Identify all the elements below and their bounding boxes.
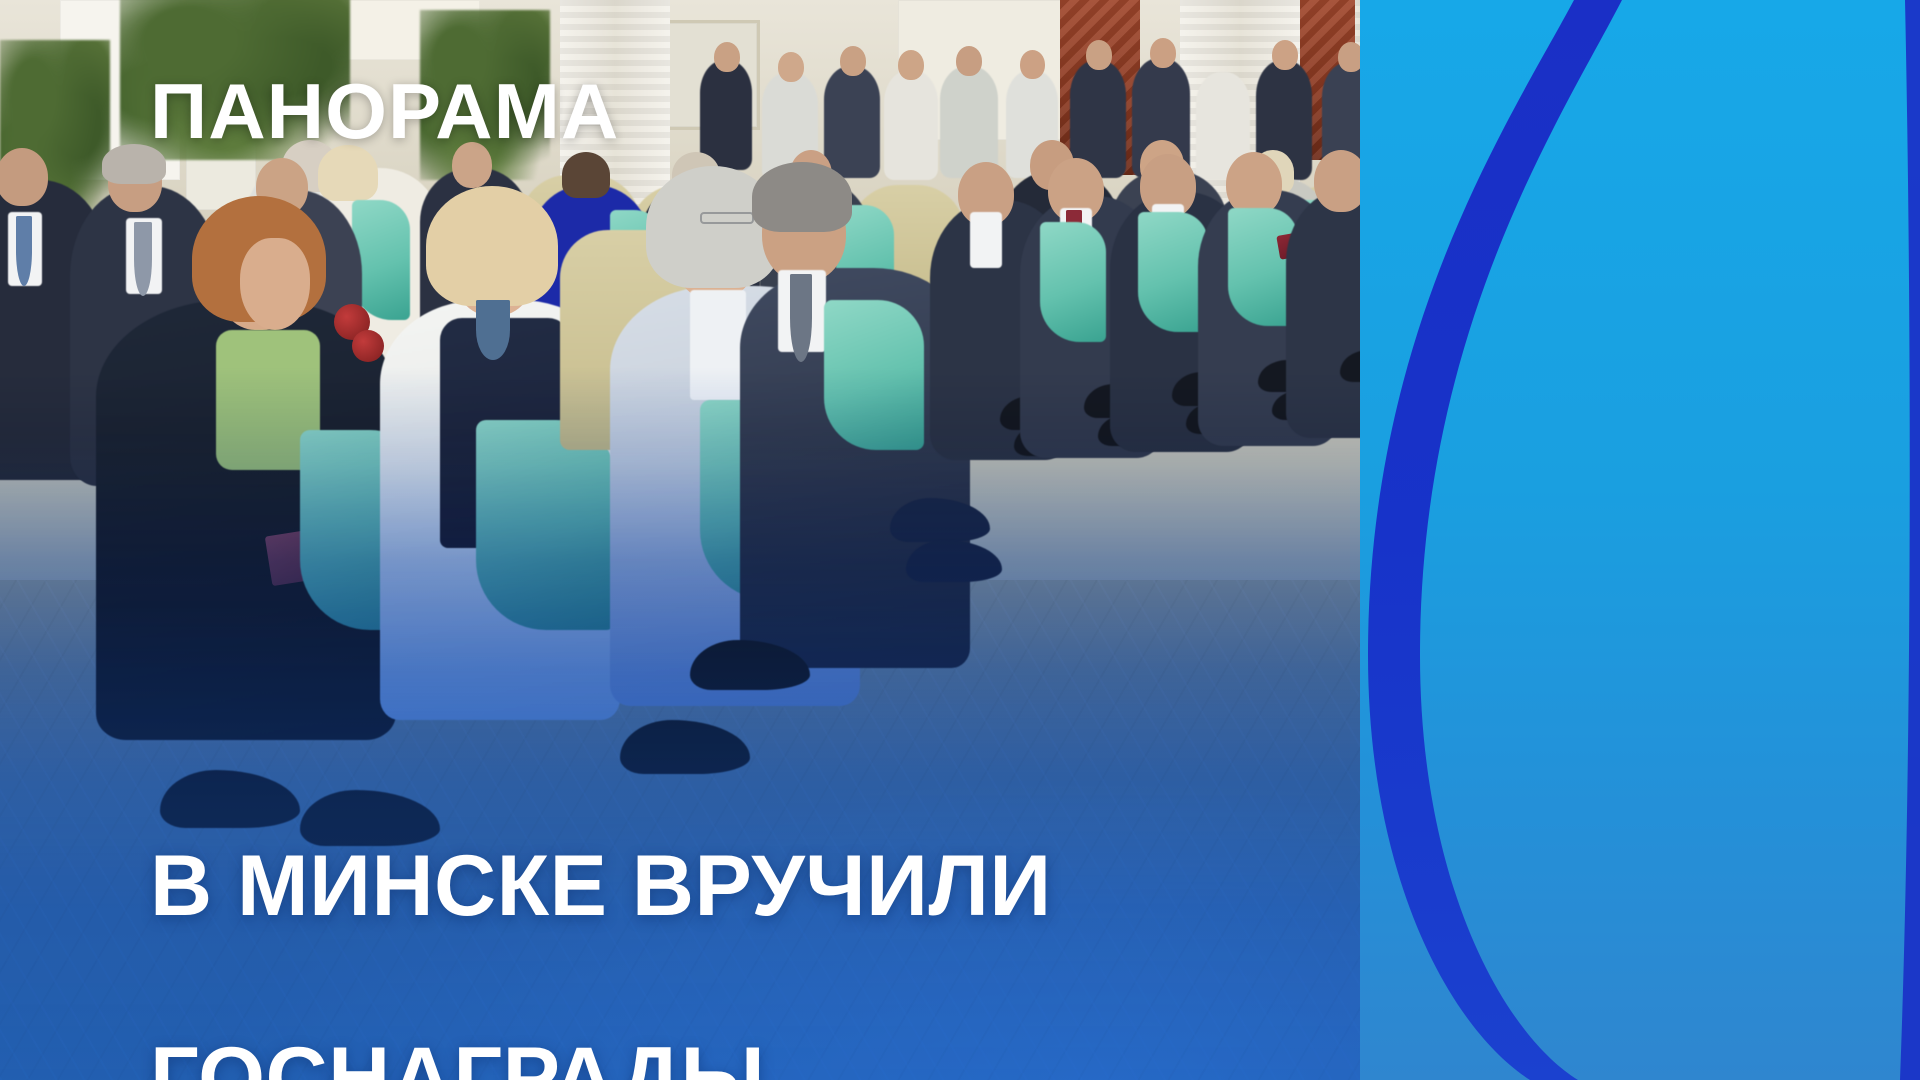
person-head (1020, 50, 1045, 79)
person-head (1338, 42, 1364, 72)
person-head (1150, 38, 1176, 68)
headline-line-2: ГОСНАГРАДЫ (150, 1030, 1052, 1080)
rose (352, 330, 384, 362)
person-head (0, 148, 48, 206)
tie (790, 274, 812, 362)
shoe (890, 498, 990, 542)
bouquet (1040, 222, 1106, 342)
person-head (1314, 150, 1368, 212)
bouquet (824, 300, 924, 450)
person-background (824, 66, 880, 178)
person-head (1086, 40, 1112, 70)
tie (16, 216, 32, 286)
person-hair (562, 152, 610, 198)
shirt (970, 212, 1002, 268)
person-face (240, 238, 310, 330)
person-hair (426, 186, 558, 306)
person-front-man-6 (1286, 188, 1422, 438)
shirt (690, 290, 746, 400)
person-head (1226, 152, 1282, 216)
person-hair (752, 162, 852, 232)
glasses-icon (700, 212, 754, 224)
person-background (884, 70, 938, 180)
video-frame: ПАНОРАМА В МИНСКЕ ВРУЧИЛИ ГОСНАГРАДЫ (0, 0, 1920, 1080)
neck-scarf (476, 300, 510, 360)
headline: В МИНСКЕ ВРУЧИЛИ ГОСНАГРАДЫ (150, 742, 1052, 1080)
person-head (714, 42, 740, 72)
headline-line-1: В МИНСКЕ ВРУЧИЛИ (150, 838, 1052, 934)
person-background (940, 66, 998, 178)
person-background (700, 60, 752, 170)
person-head (956, 46, 982, 76)
program-logo: ПАНОРАМА (150, 72, 619, 150)
tie (134, 222, 152, 296)
shoe (906, 540, 1002, 582)
person-head (778, 52, 804, 82)
person-head (1272, 40, 1298, 70)
person-head (840, 46, 866, 76)
bouquet (476, 420, 616, 630)
person-head (898, 50, 924, 80)
